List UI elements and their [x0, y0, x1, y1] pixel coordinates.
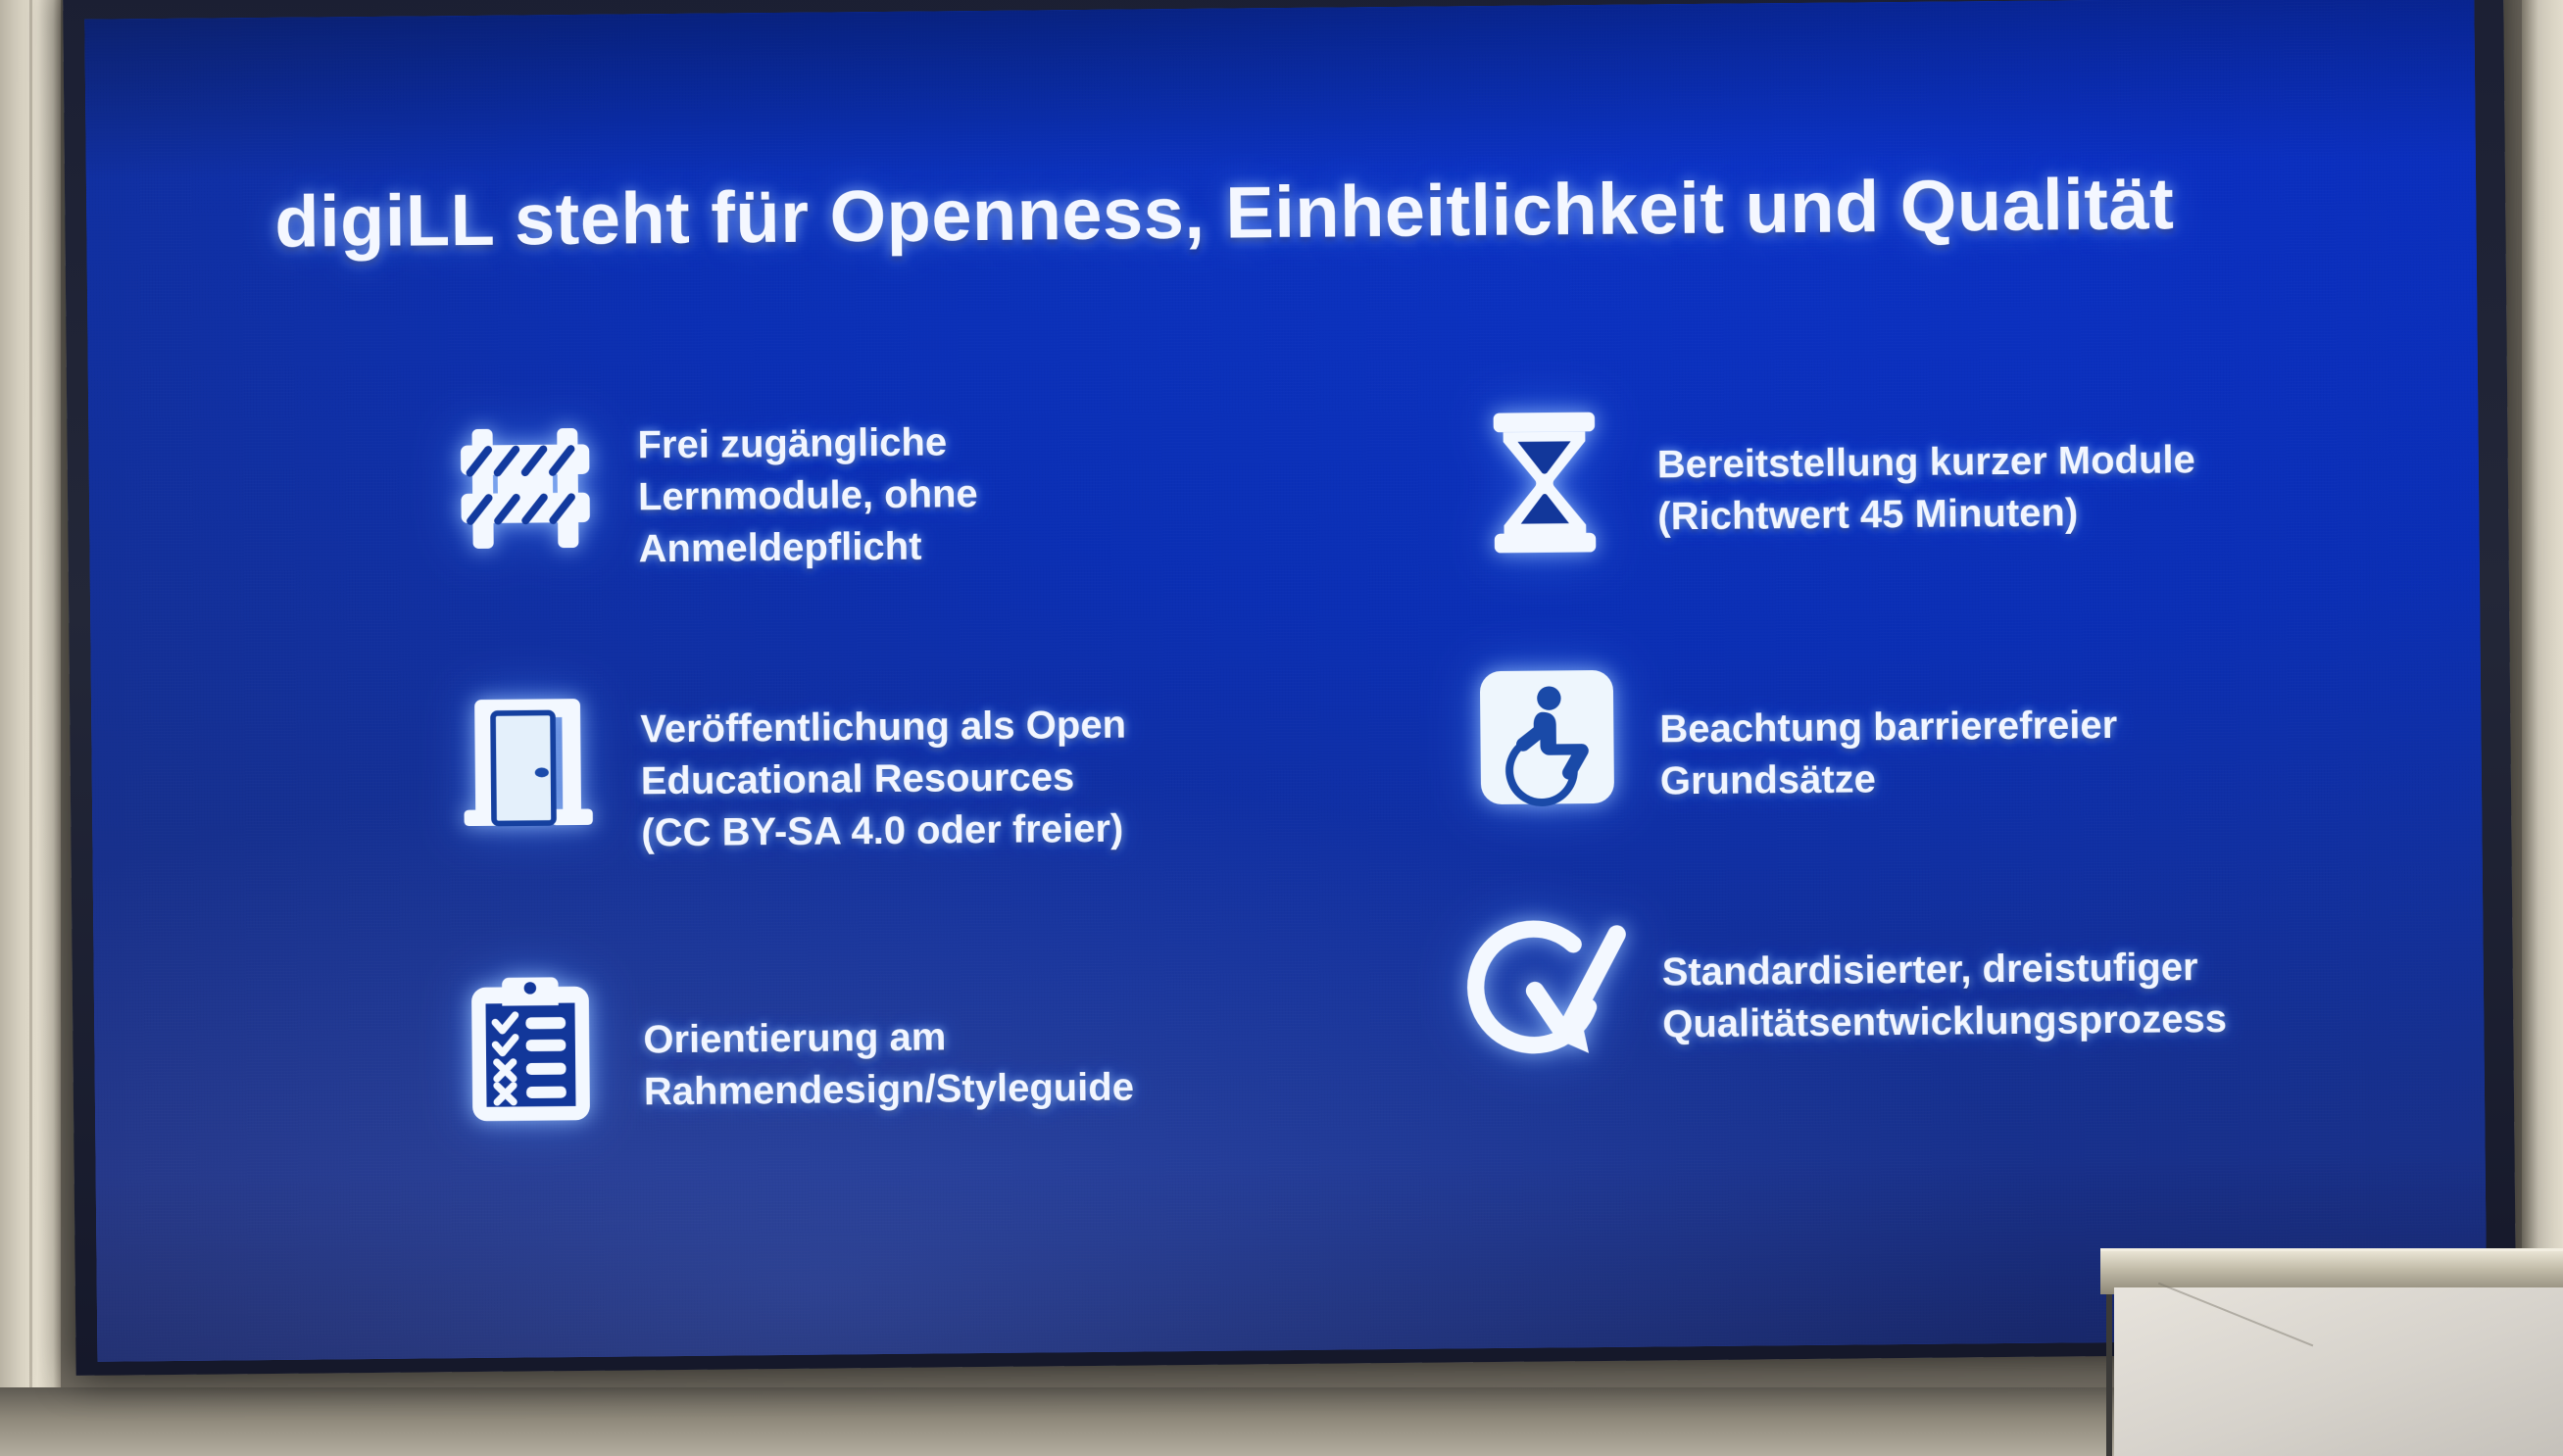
- feature-column-right: Bereitstellung kurzer Module (Richtwert …: [1431, 397, 2457, 1177]
- projection-screen-bezel: digiLL steht für Openness, Einheitlichke…: [63, 0, 2517, 1376]
- feature-text: Beachtung barrierefreier Grundsätze: [1659, 655, 2454, 807]
- feature-text: Veröffentlichung als Open Educational Re…: [640, 677, 1436, 859]
- feature-row-accessibility: Beachtung barrierefreier Grundsätze: [1434, 655, 2454, 812]
- flipchart-edge: [2106, 1282, 2112, 1456]
- circular-arrow-check-icon: [1436, 913, 1663, 1072]
- feature-text: Orientierung am Rahmendesign/Styleguide: [643, 961, 1438, 1117]
- feature-text: Bereitstellung kurzer Module (Richtwert …: [1656, 397, 2451, 543]
- hourglass-icon: [1431, 404, 1658, 560]
- presentation-slide: digiLL steht für Openness, Einheitlichke…: [84, 0, 2487, 1362]
- feature-text: Standardisierter, dreistufiger Qualitäts…: [1661, 906, 2456, 1050]
- feature-row-oer-license: Veröffentlichung als Open Educational Re…: [415, 677, 1436, 861]
- open-door-icon: [415, 685, 641, 834]
- wall-left: [0, 0, 61, 1456]
- wall-right: [2522, 0, 2563, 1456]
- clipboard-checklist-icon: [418, 969, 645, 1126]
- projector-room-photo: digiLL steht für Openness, Einheitlichke…: [0, 0, 2563, 1456]
- wheelchair-accessibility-icon: [1434, 662, 1660, 811]
- feature-row-open-access: Frei zugängliche Lernmodule, ohne Anmeld…: [412, 407, 1433, 577]
- feature-row-quality-process: Standardisierter, dreistufiger Qualitäts…: [1436, 906, 2456, 1073]
- feature-column-left: Frei zugängliche Lernmodule, ohne Anmeld…: [412, 407, 1439, 1237]
- flipchart-easel: [2100, 1248, 2563, 1456]
- flipchart-paper: [2114, 1287, 2563, 1456]
- feature-row-styleguide: Orientierung am Rahmendesign/Styleguide: [418, 961, 1438, 1126]
- feature-row-module-length: Bereitstellung kurzer Module (Richtwert …: [1431, 397, 2451, 561]
- feature-text: Frei zugängliche Lernmodule, ohne Anmeld…: [637, 407, 1433, 575]
- slide-title: digiLL steht für Openness, Einheitlichke…: [274, 163, 2275, 262]
- barrier-icon: [412, 413, 638, 562]
